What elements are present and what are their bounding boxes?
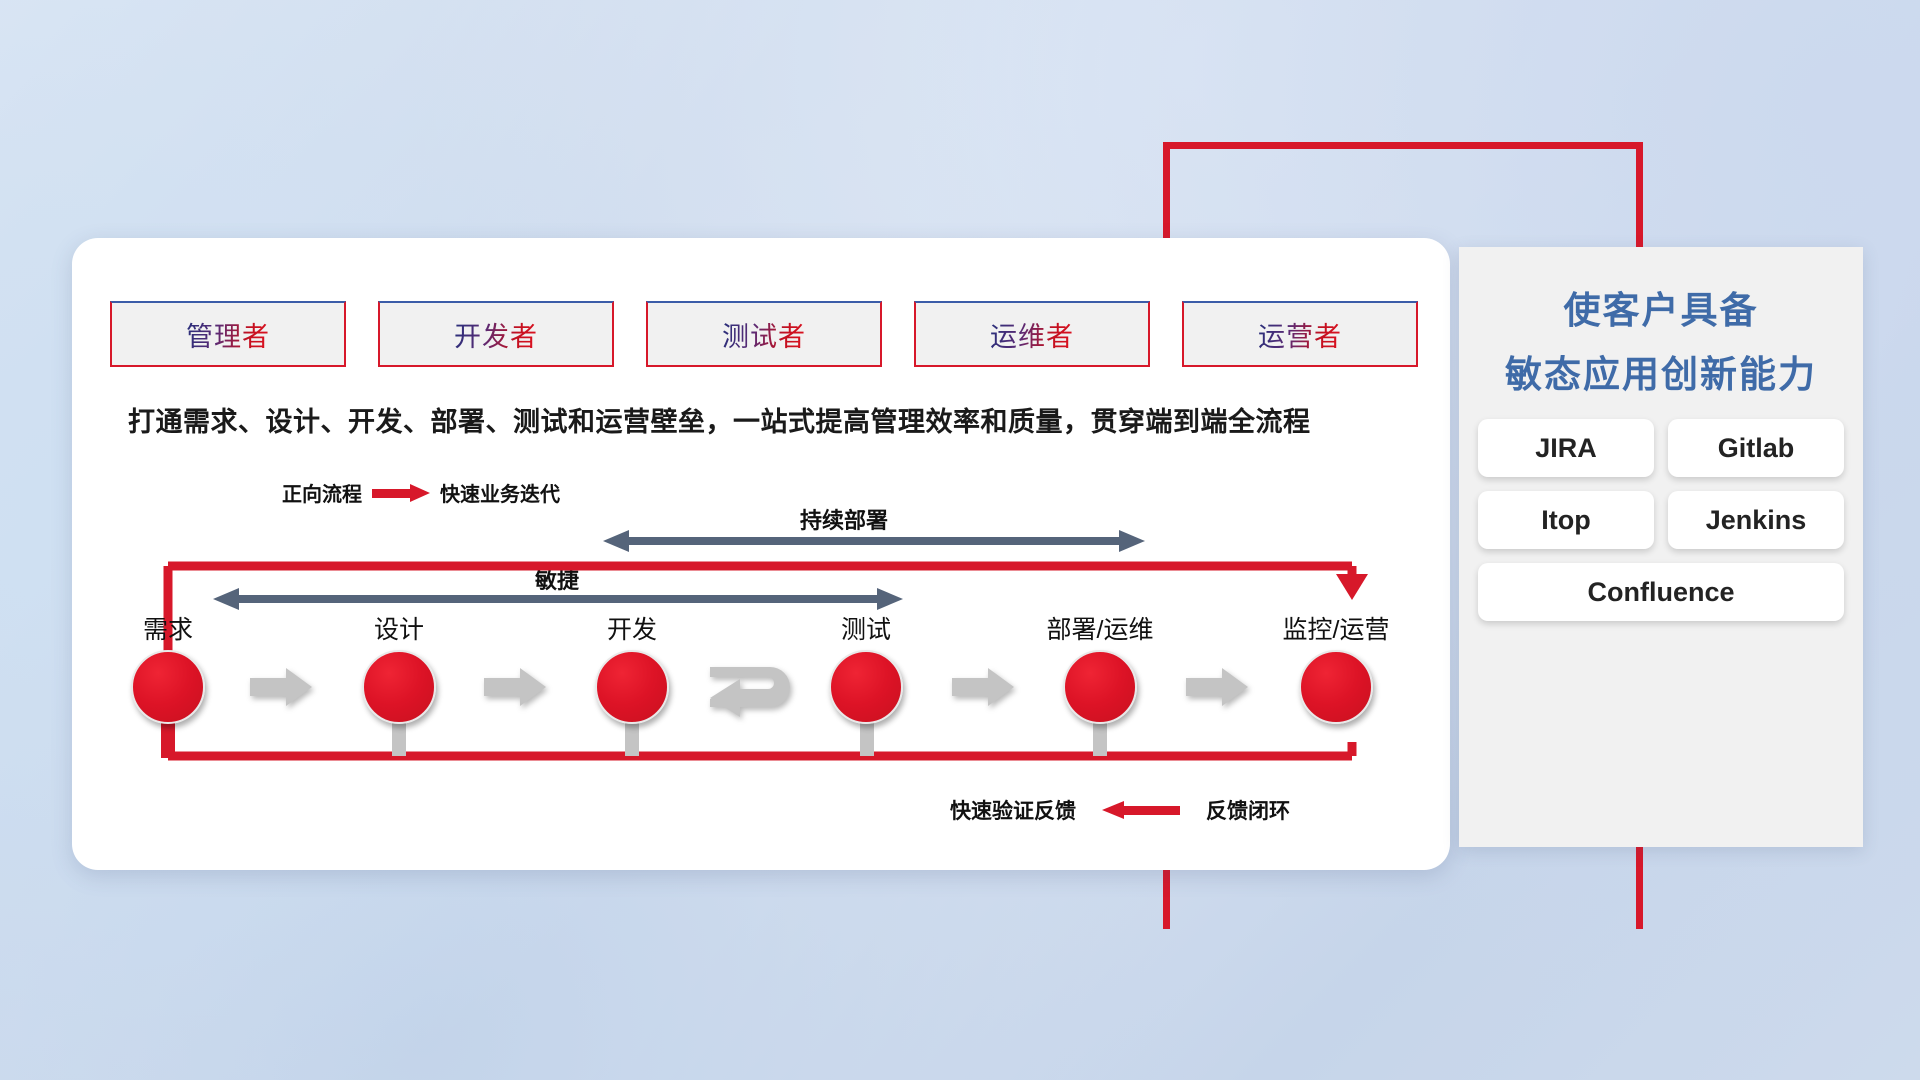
stage-label: 监控/运营 [1283, 610, 1390, 646]
arrow-head-left-icon [603, 530, 629, 552]
role-box-ops[interactable]: 运维者 [914, 301, 1150, 367]
value-panel: 使客户具备 敏态应用创新能力 JIRA Gitlab Itop Jenkins … [1459, 247, 1863, 847]
arrow-head-right-icon [877, 588, 903, 610]
forward-flow-legend: 正向流程 快速业务迭代 [282, 478, 560, 507]
flow-arrow-req-to-design-icon [250, 668, 312, 706]
arrow-head-right-icon [1119, 530, 1145, 552]
role-label: 开发者 [454, 315, 538, 354]
red-right-arrow-icon [372, 484, 430, 502]
stage-dot[interactable] [595, 650, 669, 724]
continuous-deploy-arrow [604, 530, 1144, 552]
value-panel-title-line2: 敏态应用创新能力 [1459, 344, 1863, 398]
red-left-arrow-icon [1102, 801, 1180, 819]
role-box-row: 管理者 开发者 测试者 运维者 运营者 [110, 301, 1418, 367]
stage-dot[interactable] [362, 650, 436, 724]
stage-label: 设计 [374, 610, 424, 646]
tool-chip-confluence[interactable]: Confluence [1478, 563, 1844, 621]
stage-dot[interactable] [1063, 650, 1137, 724]
role-label: 管理者 [186, 315, 270, 354]
flow-arrow-test-to-deploy-icon [952, 668, 1014, 706]
forward-flow-source-label: 正向流程 [282, 478, 362, 507]
role-label: 测试者 [722, 315, 806, 354]
tool-chip-jenkins[interactable]: Jenkins [1668, 491, 1844, 549]
stage-label: 开发 [607, 610, 657, 646]
role-label: 运营者 [1258, 315, 1342, 354]
stage-dot[interactable] [1299, 650, 1373, 724]
stage-label: 测试 [841, 610, 891, 646]
tool-chip-jira[interactable]: JIRA [1478, 419, 1654, 477]
tool-chip-list: JIRA Gitlab Itop Jenkins Confluence [1478, 419, 1844, 621]
flow-arrow-deploy-to-monitor-icon [1186, 668, 1248, 706]
arrow-shaft [238, 595, 878, 603]
tool-chip-itop[interactable]: Itop [1478, 491, 1654, 549]
role-box-tester[interactable]: 测试者 [646, 301, 882, 367]
feedback-loop-legend: 快速验证反馈 反馈闭环 [950, 795, 1290, 825]
feedback-target-label: 快速验证反馈 [950, 795, 1076, 825]
tool-chip-label: Gitlab [1718, 433, 1795, 464]
role-box-developer[interactable]: 开发者 [378, 301, 614, 367]
forward-flow-target-label: 快速业务迭代 [440, 478, 560, 507]
flow-arrow-design-to-dev-icon [484, 668, 546, 706]
tool-chip-label: Jenkins [1706, 505, 1807, 536]
role-box-operations[interactable]: 运营者 [1182, 301, 1418, 367]
description-text: 打通需求、设计、开发、部署、测试和运营壁垒，一站式提高管理效率和质量，贯穿端到端… [128, 400, 1428, 439]
slide-canvas: 管理者 开发者 测试者 运维者 运营者 打通需求、设计、开发、部署、测试和运营壁… [0, 0, 1920, 1080]
stage-dot[interactable] [131, 650, 205, 724]
arrow-shaft [628, 537, 1120, 545]
tool-chip-gitlab[interactable]: Gitlab [1668, 419, 1844, 477]
role-label: 运维者 [990, 315, 1074, 354]
value-panel-title-line1: 使客户具备 [1459, 280, 1863, 334]
tool-chip-label: Confluence [1587, 577, 1734, 608]
flow-loop-dev-test-icon [706, 655, 806, 717]
tool-chip-label: JIRA [1535, 433, 1597, 464]
tool-chip-label: Itop [1541, 505, 1590, 536]
arrow-head-left-icon [213, 588, 239, 610]
feedback-source-label: 反馈闭环 [1206, 795, 1290, 825]
stage-label: 部署/运维 [1047, 610, 1154, 646]
role-box-manager[interactable]: 管理者 [110, 301, 346, 367]
agile-arrow [214, 588, 902, 610]
stage-dot[interactable] [829, 650, 903, 724]
stage-label: 需求 [143, 610, 193, 646]
